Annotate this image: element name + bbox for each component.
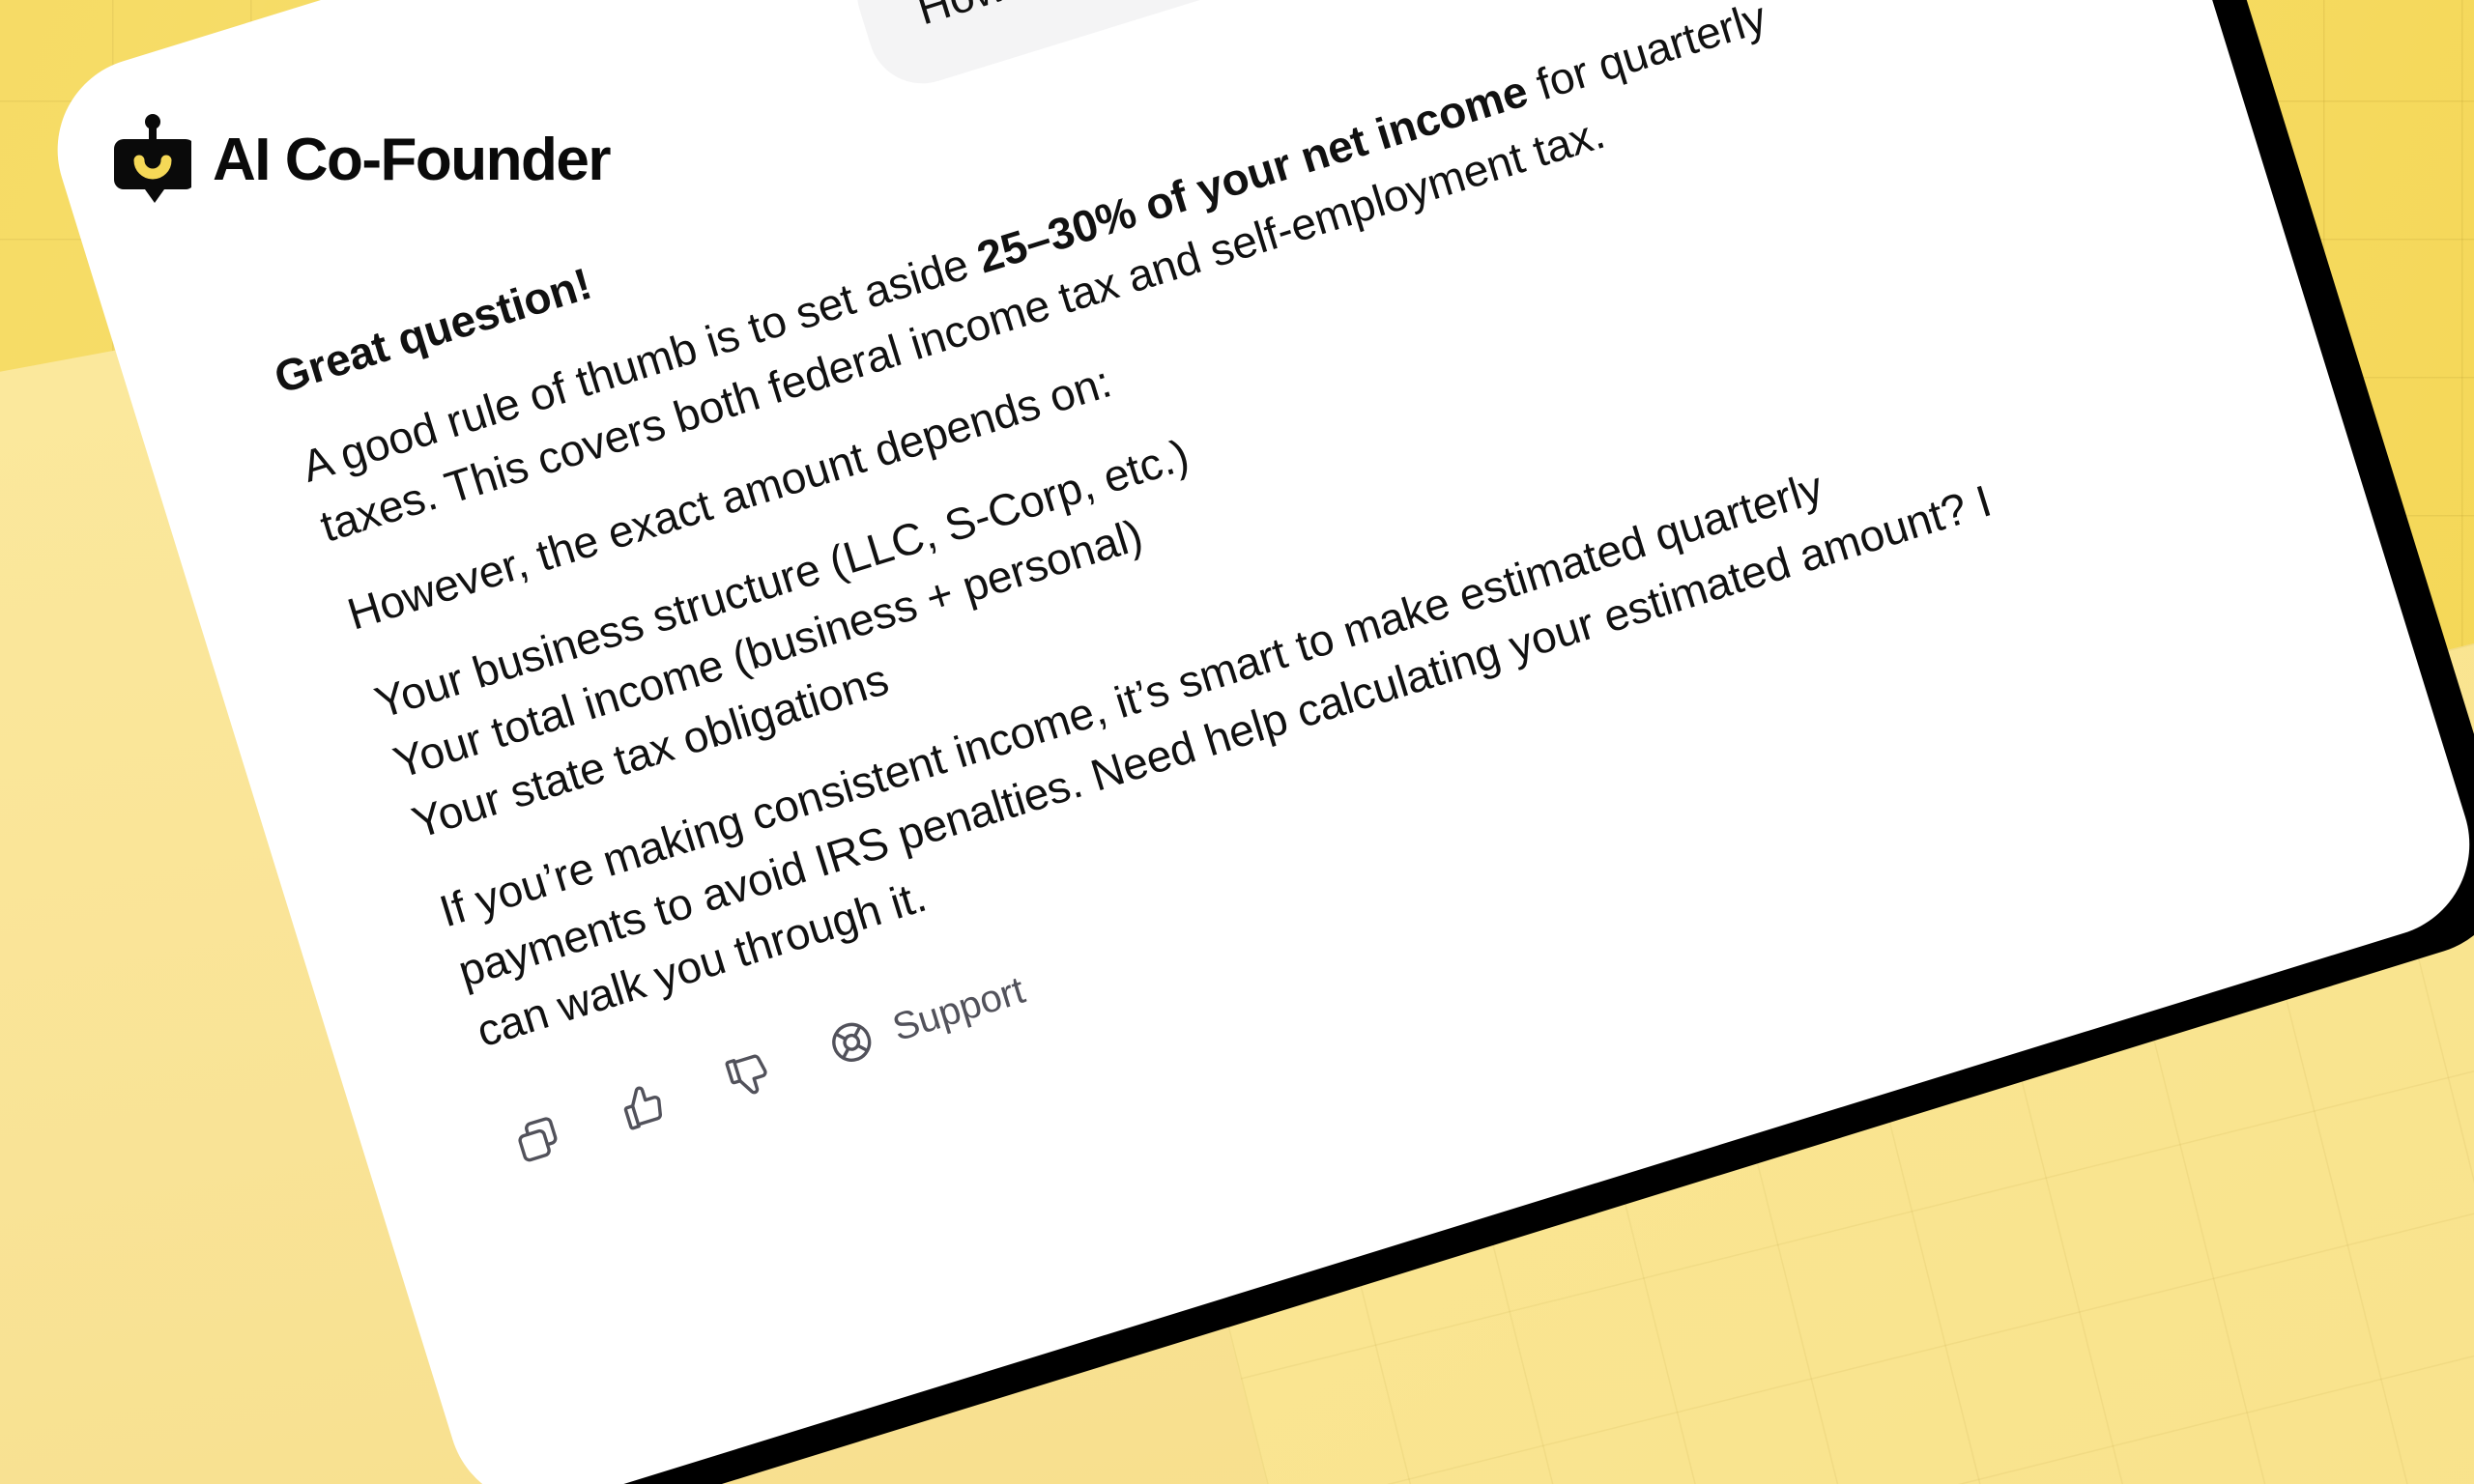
copy-icon <box>508 1110 566 1168</box>
robot-chat-bubble-icon <box>114 114 191 207</box>
brand-logo[interactable]: AI Co-Founder <box>114 114 610 207</box>
thumbs-down-button[interactable] <box>717 1042 780 1105</box>
support-button[interactable]: Support <box>822 966 1030 1070</box>
support-label: Support <box>888 970 1029 1047</box>
screen-root: AI Co-Founder How much should I set asid… <box>0 0 2474 1484</box>
copy-button[interactable] <box>506 1107 569 1170</box>
thumbs-up-button[interactable] <box>612 1075 675 1138</box>
brand-name: AI Co-Founder <box>213 130 610 190</box>
thumbs-down-icon <box>719 1045 777 1103</box>
life-buoy-icon <box>822 1013 880 1070</box>
thumbs-up-icon <box>614 1077 672 1135</box>
